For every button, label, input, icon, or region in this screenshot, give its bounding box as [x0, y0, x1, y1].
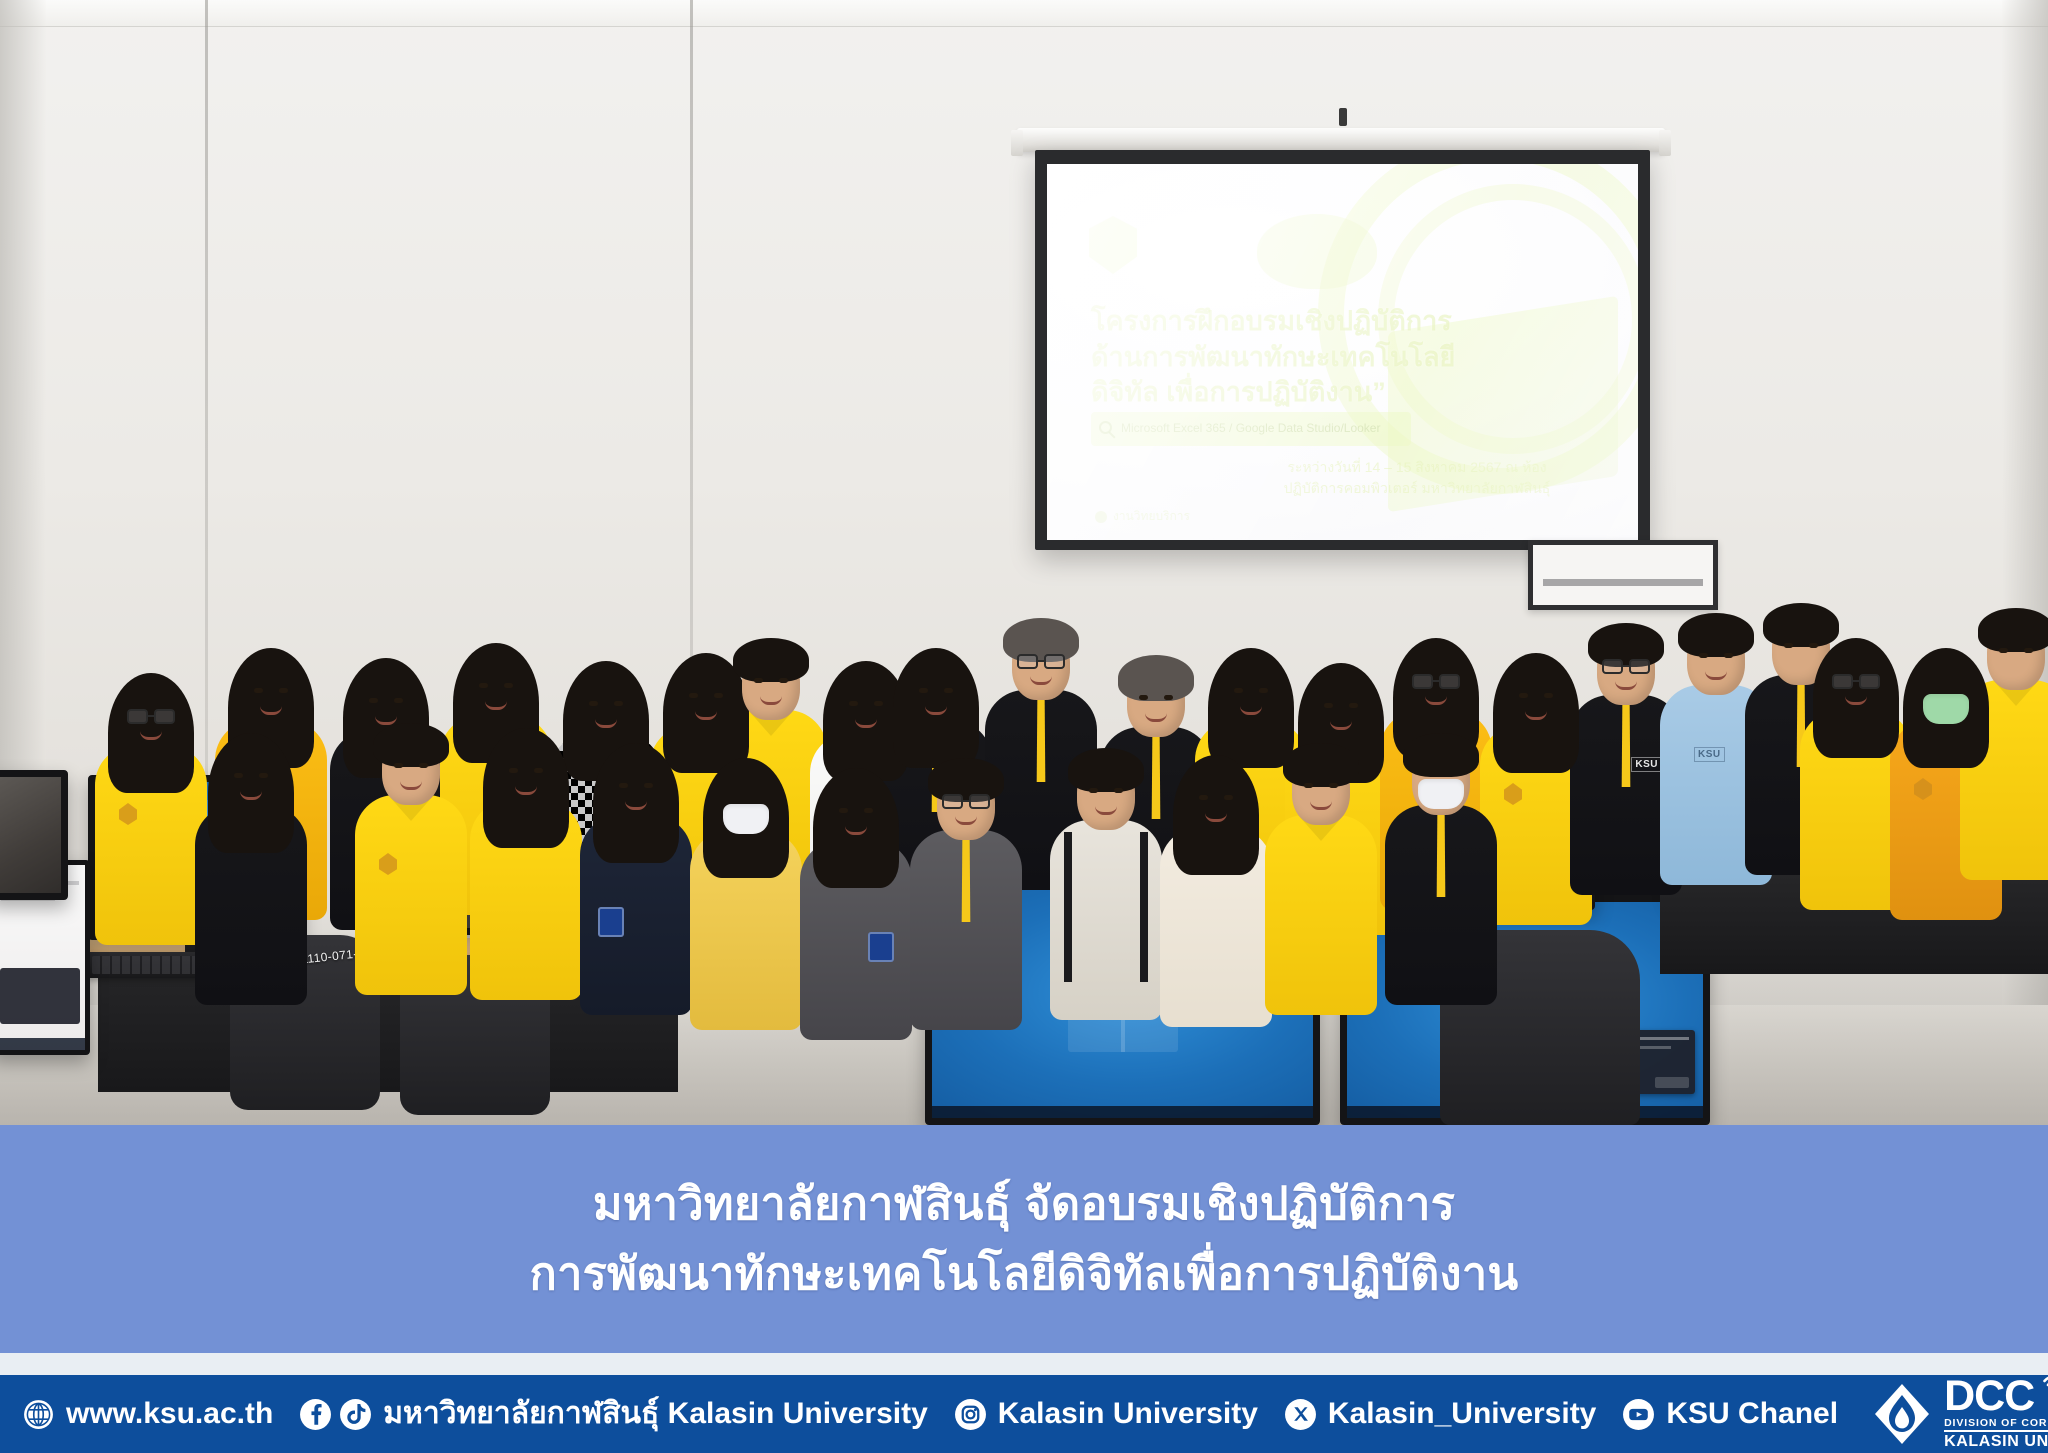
monitor-screen: [0, 770, 68, 900]
footer-website-label: www.ksu.ac.th: [66, 1399, 273, 1429]
person-head: [1222, 658, 1280, 730]
person-head: [467, 653, 525, 725]
eyes: [754, 678, 788, 683]
glasses-icon: [1412, 673, 1460, 689]
footer-item-youtube[interactable]: KSU Chanel: [1622, 1398, 1838, 1431]
id-badge: [868, 932, 894, 962]
hair: [1068, 748, 1144, 792]
inner-shirt: [948, 832, 984, 922]
dark-notification-card: [0, 968, 80, 1024]
caption-line-2: การพัฒนาทักษะเทคโนโลยีดิจิทัลเพื่อการปฏิ…: [530, 1246, 1519, 1302]
eyes: [589, 701, 623, 706]
monitor-powered-off: [0, 777, 61, 893]
shirt-emblem-icon: [1914, 778, 1932, 800]
footer-item-facebook-tiktok[interactable]: มหาวิทยาลัยกาฬสินธุ์ Kalasin University: [299, 1398, 928, 1431]
face-mask-icon: [1418, 779, 1464, 809]
smile: [1705, 671, 1727, 680]
eyes: [234, 773, 268, 778]
smile: [1095, 806, 1117, 815]
shirt-emblem-icon: [119, 803, 137, 825]
dcc-logo[interactable]: DCC DIVISION OF CORPORATE COMMUNICATION …: [1872, 1377, 2048, 1451]
x-twitter-icon[interactable]: [1284, 1398, 1317, 1431]
person-back-1: [95, 683, 207, 945]
footer-instagram-label: Kalasin University: [998, 1399, 1258, 1429]
eyes: [479, 683, 513, 688]
person-head: [242, 658, 300, 730]
person-head: [742, 648, 800, 720]
person-front-9: [1160, 765, 1272, 1027]
shirt-emblem-icon: [379, 853, 397, 875]
monitor-far-left-upper: [0, 770, 68, 900]
eyes: [1199, 795, 1233, 800]
dcc-subtitle-division: DIVISION OF CORPORATE COMMUNICATION: [1944, 1418, 2048, 1430]
globe-icon: [22, 1398, 55, 1431]
person-head: [1077, 758, 1135, 830]
youtube-icon[interactable]: [1622, 1398, 1655, 1431]
tiktok-icon[interactable]: [339, 1398, 372, 1431]
person-head: [222, 743, 280, 815]
person-head: [1687, 623, 1745, 695]
eyes: [1999, 648, 2033, 653]
poster-root: โครงการฝึกอบรมเชิงปฏิบัติการ ด้านการพัฒน…: [0, 0, 2048, 1453]
eyes: [1234, 688, 1268, 693]
person-head: [1412, 743, 1470, 815]
dcc-top-row: DCC: [1944, 1377, 2048, 1417]
smile: [1145, 713, 1167, 722]
hair: [1978, 608, 2048, 652]
footer-youtube-label: KSU Chanel: [1666, 1399, 1838, 1429]
person-head: [1507, 663, 1565, 735]
eyes: [689, 693, 723, 698]
shirt-emblem-icon: [1504, 783, 1522, 805]
person-head: [827, 778, 885, 850]
person-front-3: [470, 738, 582, 1000]
person-head: [382, 733, 440, 805]
dcc-wordmark-block: DCC DIVISION OF CORPORATE COMMUNICATION …: [1944, 1377, 2048, 1451]
person-front-6: [800, 778, 912, 1040]
windows-taskbar[interactable]: [932, 1106, 1313, 1118]
slide-title: โครงการฝึกอบรมเชิงปฏิบัติการ ด้านการพัฒน…: [1091, 304, 1481, 411]
person-torso: [1385, 805, 1497, 1005]
inner-shirt: [1423, 807, 1459, 897]
person-front-1: [195, 743, 307, 1005]
person-head: [1292, 753, 1350, 825]
screen-roller-housing: [1017, 128, 1665, 152]
eyes: [619, 783, 653, 788]
person-head: [1312, 673, 1370, 745]
footer-item-x[interactable]: Kalasin_University: [1284, 1398, 1596, 1431]
person-head: [1187, 765, 1245, 837]
glasses-icon: [1602, 658, 1650, 674]
person-head: [1407, 648, 1465, 720]
glasses-icon: [1017, 653, 1065, 669]
hair: [1678, 613, 1754, 657]
eyes: [1784, 643, 1818, 648]
facebook-icon[interactable]: [299, 1398, 332, 1431]
hair: [373, 723, 449, 767]
person-head: [907, 658, 965, 730]
slide-search-pill: Microsoft Excel 365 / Google Data Studio…: [1091, 412, 1411, 446]
eyes: [254, 688, 288, 693]
person-front-4: [580, 753, 692, 1015]
eyes: [919, 688, 953, 693]
id-badge: [598, 907, 624, 937]
person-front-5: [690, 768, 802, 1030]
slide-search-text: Microsoft Excel 365 / Google Data Studio…: [1121, 422, 1380, 436]
caption-line-1: มหาวิทยาลัยกาฬสินธุ์ จัดอบรมเชิงปฏิบัติก…: [593, 1176, 1455, 1232]
person-torso: [355, 795, 467, 995]
eyes: [1304, 783, 1338, 788]
face-mask-icon: [723, 804, 769, 834]
person-head: [607, 753, 665, 825]
eyes: [1139, 695, 1173, 700]
hair: [1283, 743, 1359, 787]
person-head: [717, 768, 775, 840]
eyes: [509, 768, 543, 773]
glasses-icon: [1832, 673, 1880, 689]
eyes: [394, 763, 428, 768]
footer-facebook-label: มหาวิทยาลัยกาฬสินธุ์ Kalasin University: [383, 1399, 928, 1429]
person-head: [497, 738, 555, 810]
footer-x-label: Kalasin_University: [1328, 1399, 1596, 1429]
magnifier-icon: [1099, 421, 1112, 434]
caption-banner: มหาวิทยาลัยกาฬสินธุ์ จัดอบรมเชิงปฏิบัติก…: [0, 1125, 2048, 1353]
person-head: [1012, 628, 1070, 700]
person-head: [577, 671, 635, 743]
smile: [1615, 681, 1637, 690]
person-head: [1987, 618, 2045, 690]
eyes: [1699, 653, 1733, 658]
ceiling-band: [0, 0, 2048, 26]
person-head: [1917, 658, 1975, 730]
hair: [733, 638, 809, 682]
slide-cloud-icon: [1257, 214, 1377, 289]
smile: [1030, 676, 1052, 685]
person-head: [837, 671, 895, 743]
eyes: [849, 701, 883, 706]
eyes: [1519, 693, 1553, 698]
ksu-logo-badge-icon: KSU: [1631, 757, 1662, 772]
footer-social-bar: www.ksu.ac.th มหาวิทยาลัยกาฬสินธุ์ Kalas…: [0, 1375, 2048, 1453]
smile: [955, 816, 977, 825]
glasses-icon: [127, 708, 175, 724]
person-torso: [1265, 815, 1377, 1015]
screen-canvas: โครงการฝึกอบรมเชิงปฏิบัติการ ด้านการพัฒน…: [1047, 164, 1638, 540]
screen-roller-pin: [1339, 108, 1347, 126]
dcc-wordmark: DCC: [1944, 1377, 2034, 1417]
person-head: [677, 663, 735, 735]
eyes: [1324, 703, 1358, 708]
dcc-subtitle-university: KALASIN UNIVERSITY: [1944, 1430, 2048, 1451]
eyes: [1089, 788, 1123, 793]
person-head: [1127, 665, 1185, 737]
smile: [760, 696, 782, 705]
group-photo: โครงการฝึกอบรมเชิงปฏิบัติการ ด้านการพัฒน…: [0, 0, 2048, 1125]
person-head: [1597, 633, 1655, 705]
person-head: [937, 768, 995, 840]
person-head: [122, 683, 180, 755]
divider-strip: [0, 1353, 2048, 1375]
dcc-flame-icon: [1872, 1383, 1932, 1445]
eyes: [839, 808, 873, 813]
person-torso: [1050, 820, 1162, 1020]
ksu-logo-badge-icon: KSU: [1694, 747, 1725, 762]
slide-badge-icon: [1089, 216, 1137, 274]
footer-item-instagram[interactable]: Kalasin University: [954, 1398, 1258, 1431]
eyes: [369, 698, 403, 703]
glasses-icon: [942, 793, 990, 809]
inner-shirt: [1023, 692, 1059, 782]
footer-item-website[interactable]: www.ksu.ac.th: [22, 1398, 273, 1431]
smile: [1310, 801, 1332, 810]
hair: [1763, 603, 1839, 647]
broadcast-antenna-icon: [2037, 1373, 2048, 1413]
smile: [400, 781, 422, 790]
face-mask-icon: [1923, 694, 1969, 724]
person-head: [1827, 648, 1885, 720]
hair: [1403, 733, 1479, 777]
inner-shirt: [1608, 697, 1644, 787]
instagram-icon[interactable]: [954, 1398, 987, 1431]
windows-taskbar[interactable]: [0, 1038, 85, 1050]
person-torso: [910, 830, 1022, 1030]
